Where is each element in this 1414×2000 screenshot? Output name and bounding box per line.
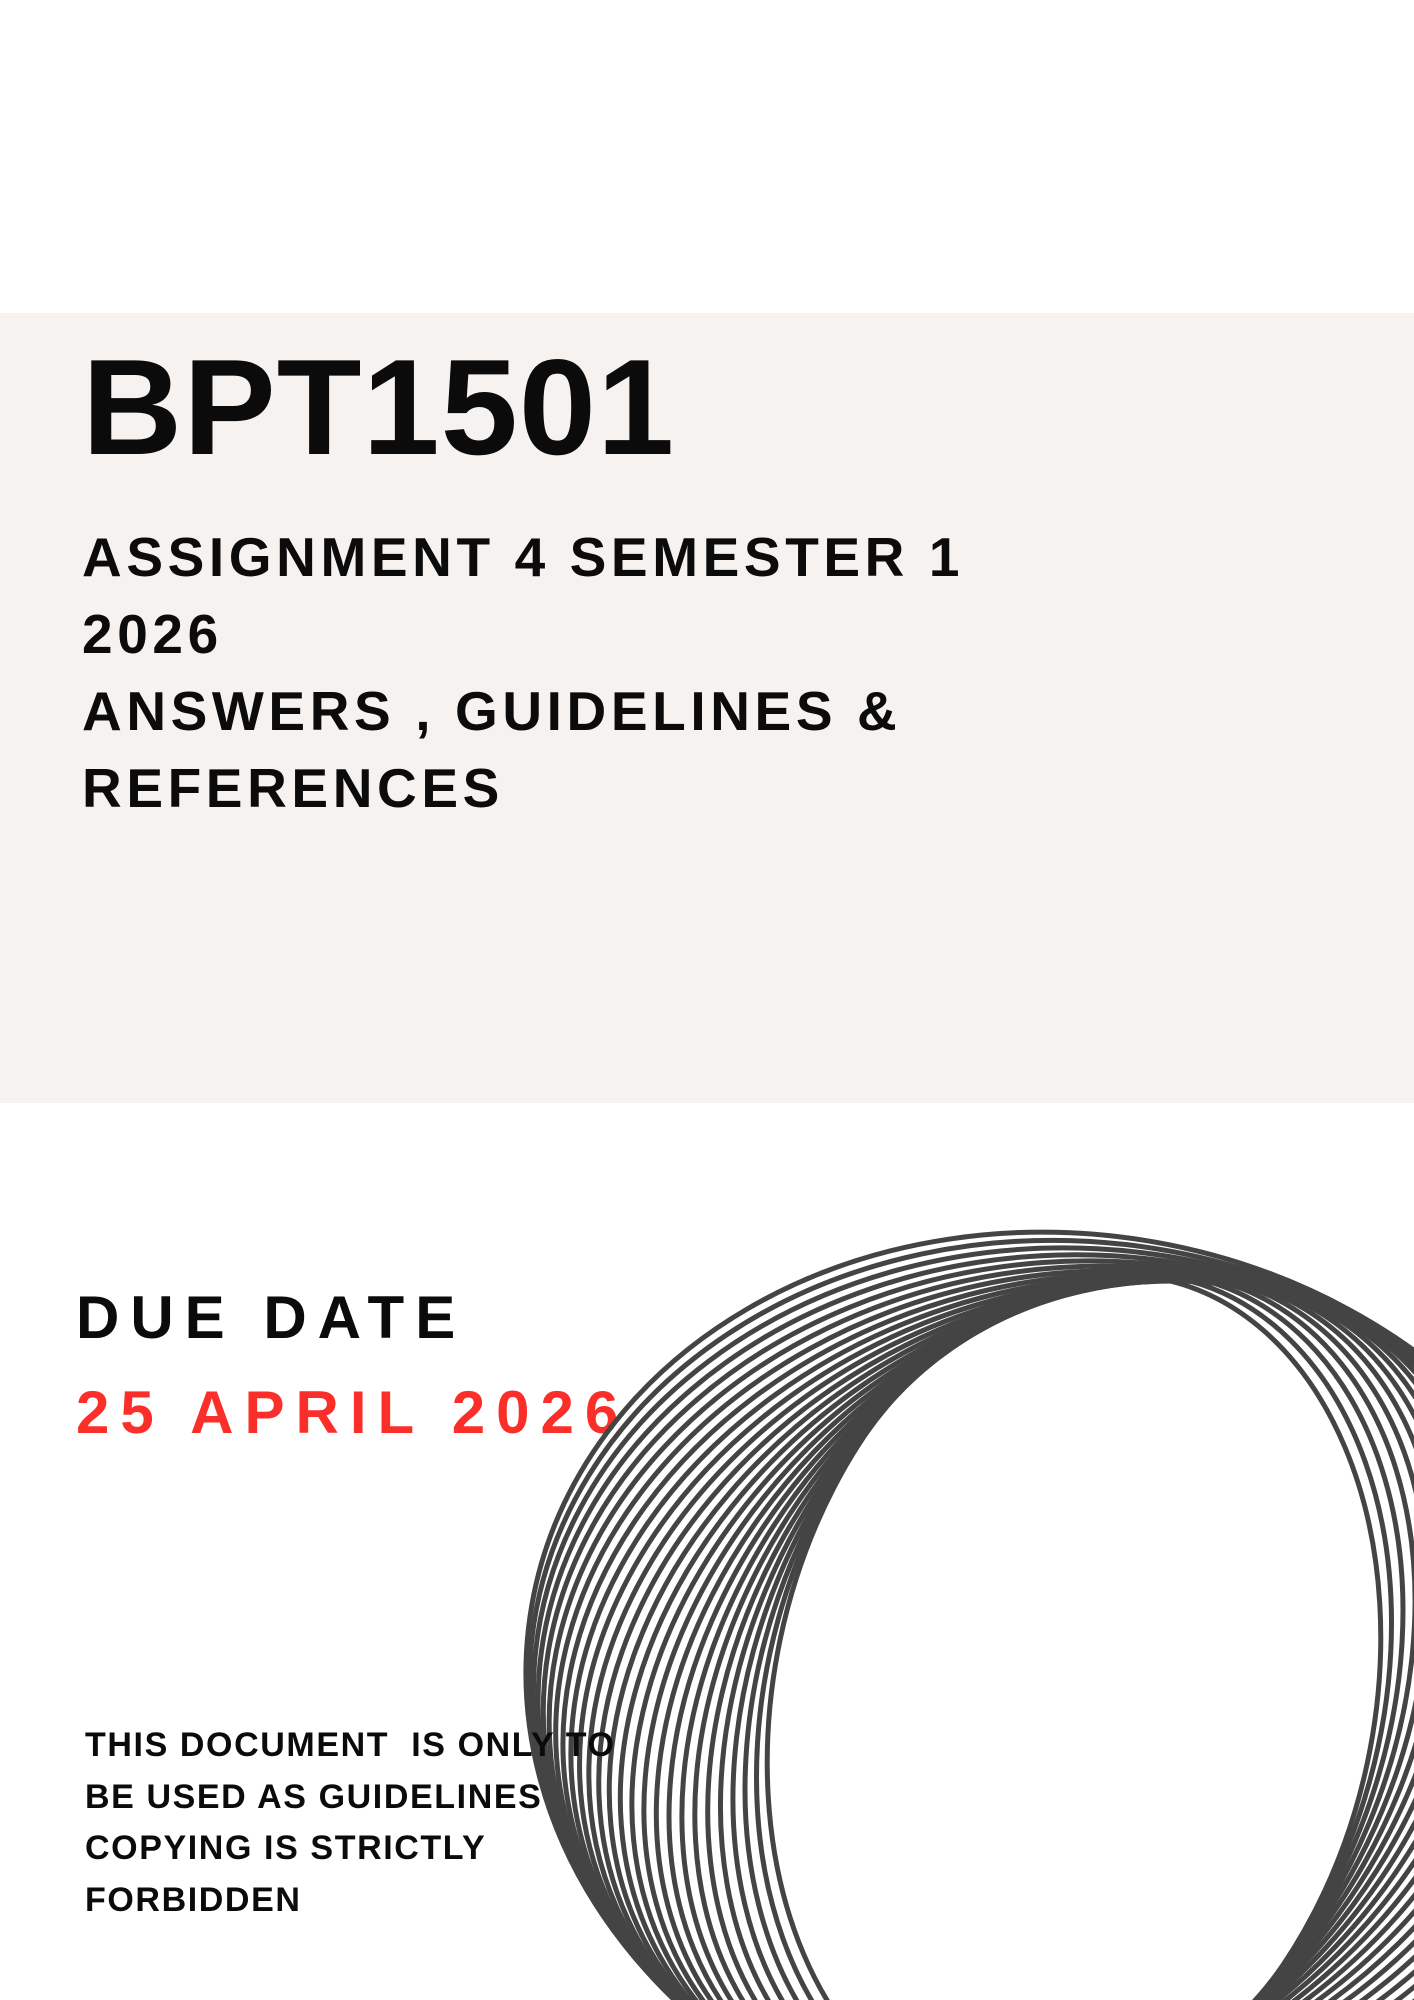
header-band: BPT1501 ASSIGNMENT 4 SEMESTER 1 2026 ANS… — [0, 313, 1414, 1103]
course-code-title: BPT1501 — [82, 339, 1318, 475]
subtitle-line-2: 2026 — [82, 596, 1294, 673]
disclaimer-line-3: COPYING IS STRICTLY — [85, 1823, 785, 1875]
subtitle-line-4: REFERENCES — [82, 750, 1294, 827]
disclaimer-line-2: BE USED AS GUIDELINES — [85, 1772, 785, 1824]
disclaimer-line-1: THIS DOCUMENT IS ONLY TO — [85, 1720, 785, 1772]
subtitle-line-1: ASSIGNMENT 4 SEMESTER 1 — [82, 519, 1294, 596]
due-date-value: 25 APRIL 2026 — [76, 1375, 976, 1450]
header-band-content: BPT1501 ASSIGNMENT 4 SEMESTER 1 2026 ANS… — [82, 339, 1294, 827]
disclaimer-line-4: FORBIDDEN — [85, 1875, 785, 1927]
due-date-block: DUE DATE 25 APRIL 2026 — [76, 1280, 976, 1450]
subtitle-line-3: ANSWERS , GUIDELINES & — [82, 673, 1294, 750]
document-cover-page: BPT1501 ASSIGNMENT 4 SEMESTER 1 2026 ANS… — [0, 0, 1414, 2000]
assignment-subtitle-block: ASSIGNMENT 4 SEMESTER 1 2026 ANSWERS , G… — [82, 519, 1294, 827]
disclaimer-block: THIS DOCUMENT IS ONLY TO BE USED AS GUID… — [85, 1720, 785, 1927]
due-date-label: DUE DATE — [76, 1280, 976, 1355]
